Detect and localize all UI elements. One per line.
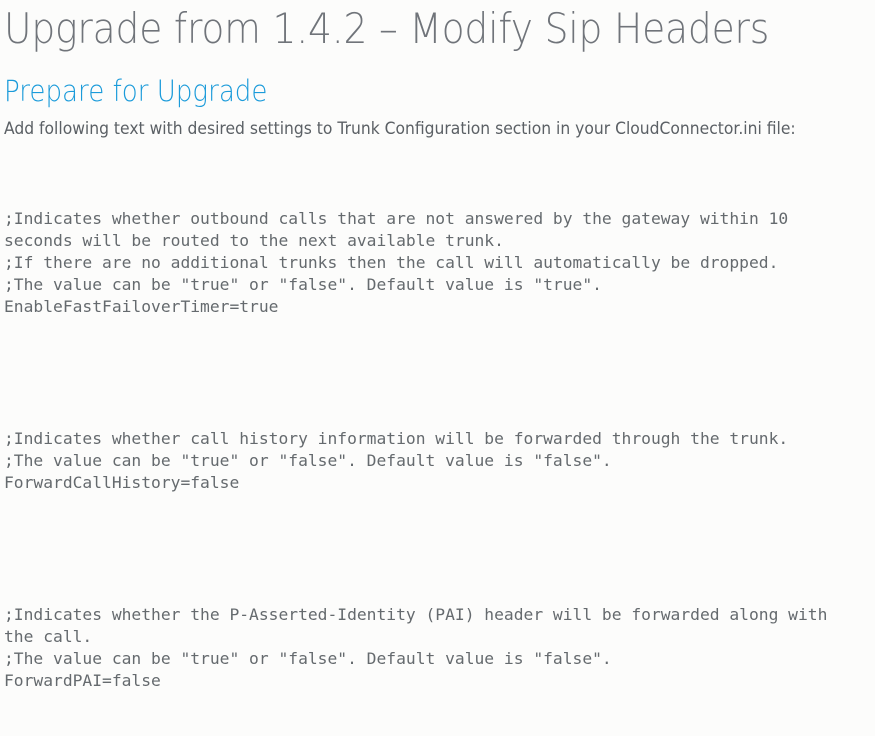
config-paragraph-enable-fast-failover-timer: ;Indicates whether outbound calls that a… [4, 208, 856, 318]
intro-paragraph: Add following text with desired settings… [4, 117, 796, 141]
ini-config-code-block[interactable]: ;Indicates whether outbound calls that a… [4, 164, 856, 736]
code-blank-line [4, 538, 856, 560]
code-blank-line [4, 362, 856, 384]
config-paragraph-forward-call-history: ;Indicates whether call history informat… [4, 428, 856, 494]
config-paragraph-forward-pai: ;Indicates whether the P-Asserted-Identi… [4, 604, 856, 692]
page-title: Upgrade from 1.4.2 – Modify Sip Headers [4, 0, 769, 60]
document-page: Upgrade from 1.4.2 – Modify Sip Headers … [0, 0, 875, 460]
section-heading-prepare-for-upgrade: Prepare for Upgrade [4, 71, 267, 111]
